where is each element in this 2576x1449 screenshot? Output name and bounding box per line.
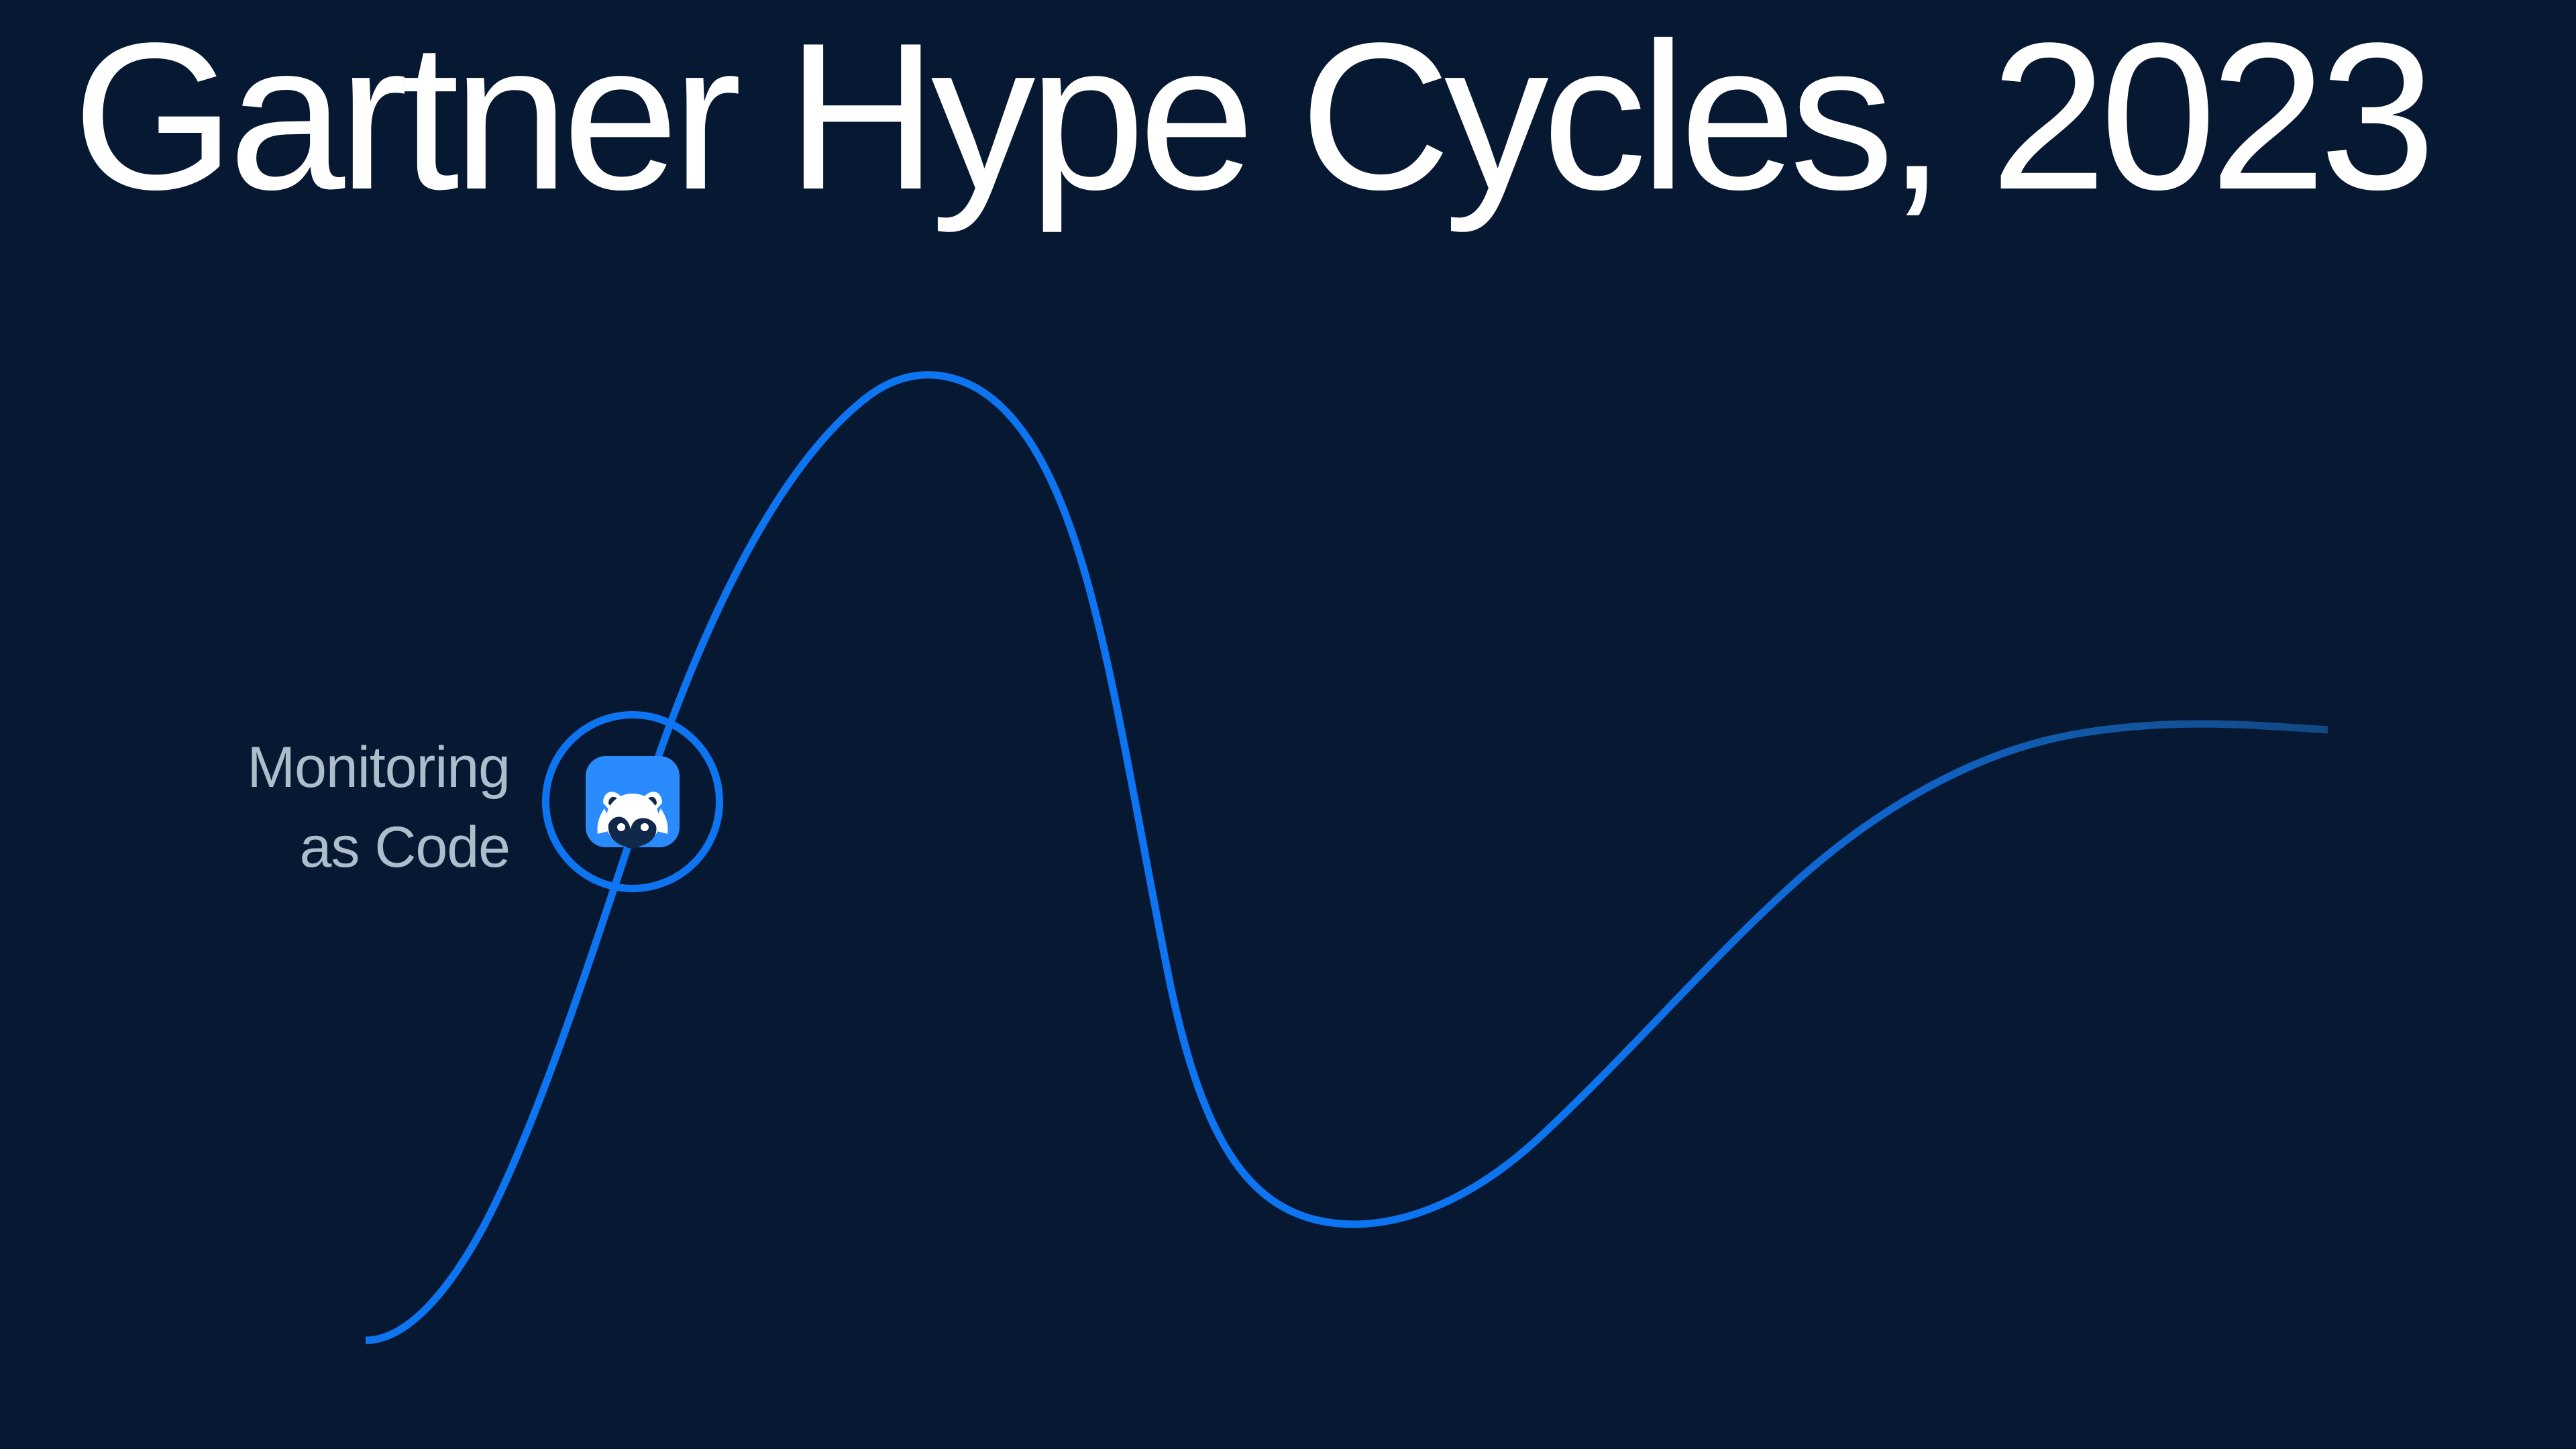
marker-label: Monitoring as Code bbox=[0, 728, 510, 887]
raccoon-logo-icon bbox=[584, 755, 681, 849]
hype-cycle-poster: Gartner Hype Cycles, 2023 Monitoring as … bbox=[0, 0, 2576, 1449]
hype-cycle-curve-chart bbox=[0, 0, 2576, 1449]
marker-badge[interactable] bbox=[542, 711, 723, 892]
